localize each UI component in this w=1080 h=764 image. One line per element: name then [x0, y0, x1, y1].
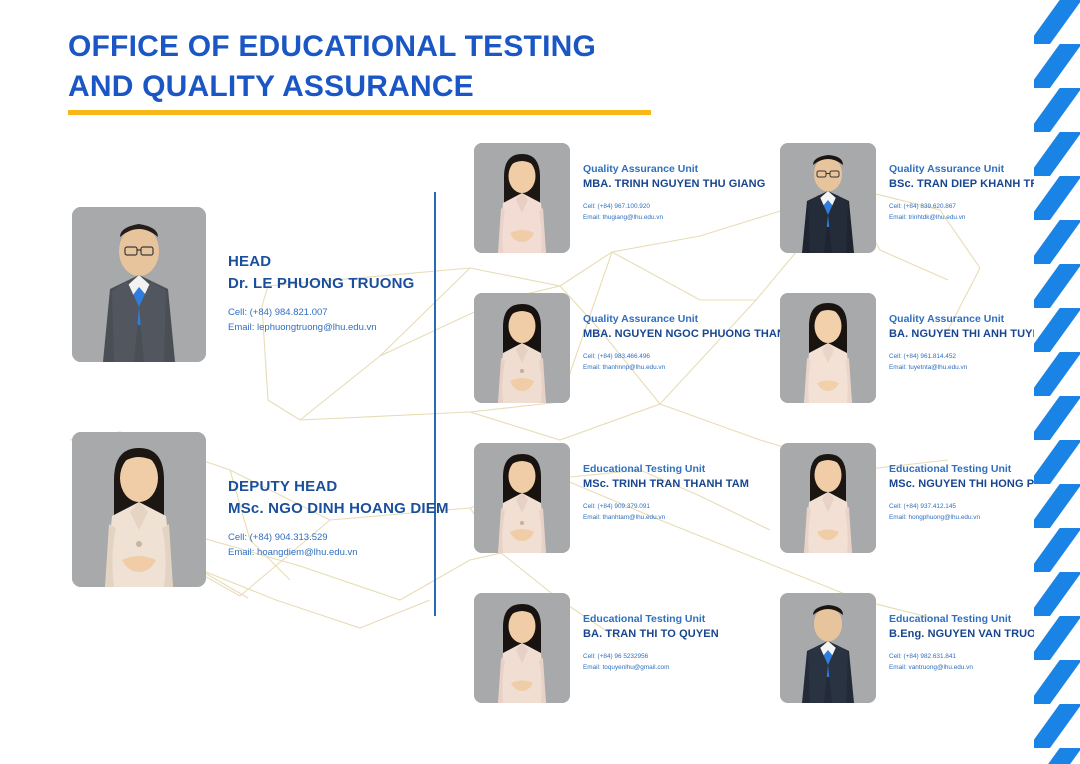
- staff-contact-6: Cell: (+84) 96 5232956 Email: toquyenlhu…: [583, 651, 719, 673]
- photo-tran-diep-khanh-trinh: [780, 143, 876, 253]
- photo-le-phuong-truong: [72, 207, 206, 362]
- staff-unit-1: Quality Assurance Unit: [889, 162, 1058, 177]
- page-title: OFFICE OF EDUCATIONAL TESTING AND QUALIT…: [68, 27, 596, 107]
- leader-contact-deputy-head: Cell: (+84) 904.313.529 Email: hoangdiem…: [228, 530, 449, 561]
- staff-email-1[interactable]: Email: trinhtdk@lhu.edu.vn: [889, 212, 1058, 223]
- staff-info-0: Quality Assurance Unit MBA. TRINH NGUYEN…: [583, 143, 765, 223]
- staff-cell-0: Cell: (+84) 967.100.920: [583, 201, 765, 212]
- staff-info-4: Educational Testing Unit MSc. TRINH TRAN…: [583, 443, 749, 523]
- staff-name-2: MBA. NGUYEN NGOC PHUONG THANH: [583, 327, 793, 343]
- staff-email-4[interactable]: Email: thanhtam@lhu.edu.vn: [583, 512, 749, 523]
- staff-name-1: BSc. TRAN DIEP KHANH TRINH: [889, 177, 1058, 193]
- staff-card-5[interactable]: Educational Testing Unit MSc. NGUYEN THI…: [780, 443, 1076, 553]
- staff-card-7[interactable]: Educational Testing Unit B.Eng. NGUYEN V…: [780, 593, 1053, 703]
- staff-card-3[interactable]: Quality Assurance Unit BA. NGUYEN THI AN…: [780, 293, 1047, 403]
- staff-email-3[interactable]: Email: tuyetnta@lhu.edu.vn: [889, 362, 1047, 373]
- photo-nguyen-thi-hong-phuong: [780, 443, 876, 553]
- staff-contact-0: Cell: (+84) 967.100.920 Email: thugiang@…: [583, 201, 765, 223]
- page-title-line-2: AND QUALITY ASSURANCE: [68, 67, 596, 107]
- leader-role-head: HEAD: [228, 251, 415, 273]
- photo-trinh-tran-thanh-tam: [474, 443, 570, 553]
- staff-info-1: Quality Assurance Unit BSc. TRAN DIEP KH…: [889, 143, 1058, 223]
- leader-email-head[interactable]: Email: lephuongtruong@lhu.edu.vn: [228, 320, 415, 335]
- staff-email-2[interactable]: Email: thanhnnp@lhu.edu.vn: [583, 362, 793, 373]
- staff-unit-4: Educational Testing Unit: [583, 462, 749, 477]
- photo-trinh-nguyen-thu-giang: [474, 143, 570, 253]
- staff-contact-3: Cell: (+84) 961.814.452 Email: tuyetnta@…: [889, 351, 1047, 373]
- staff-info-7: Educational Testing Unit B.Eng. NGUYEN V…: [889, 593, 1053, 673]
- staff-contact-4: Cell: (+84) 909.379.091 Email: thanhtam@…: [583, 501, 749, 523]
- photo-nguyen-ngoc-phuong-thanh: [474, 293, 570, 403]
- leader-info-head: HEAD Dr. LE PHUONG TRUONG Cell: (+84) 98…: [228, 207, 415, 335]
- staff-cell-3: Cell: (+84) 961.814.452: [889, 351, 1047, 362]
- staff-name-3: BA. NGUYEN THI ANH TUYET: [889, 327, 1047, 343]
- photo-ngo-dinh-hoang-diem: [72, 432, 206, 587]
- staff-card-6[interactable]: Educational Testing Unit BA. TRAN THI TO…: [474, 593, 719, 703]
- staff-card-1[interactable]: Quality Assurance Unit BSc. TRAN DIEP KH…: [780, 143, 1058, 253]
- page-title-line-1: OFFICE OF EDUCATIONAL TESTING: [68, 27, 596, 67]
- staff-name-6: BA. TRAN THI TO QUYEN: [583, 627, 719, 643]
- staff-cell-6: Cell: (+84) 96 5232956: [583, 651, 719, 662]
- leader-card-deputy-head[interactable]: DEPUTY HEAD MSc. NGO DINH HOANG DIEM Cel…: [72, 432, 449, 587]
- staff-contact-1: Cell: (+84) 839.620.867 Email: trinhtdk@…: [889, 201, 1058, 223]
- staff-email-0[interactable]: Email: thugiang@lhu.edu.vn: [583, 212, 765, 223]
- leader-role-deputy-head: DEPUTY HEAD: [228, 476, 449, 498]
- org-chart-page: OFFICE OF EDUCATIONAL TESTING AND QUALIT…: [0, 0, 1080, 764]
- staff-info-6: Educational Testing Unit BA. TRAN THI TO…: [583, 593, 719, 673]
- staff-cell-1: Cell: (+84) 839.620.867: [889, 201, 1058, 212]
- leader-name-deputy-head: MSc. NGO DINH HOANG DIEM: [228, 498, 449, 520]
- leader-info-deputy-head: DEPUTY HEAD MSc. NGO DINH HOANG DIEM Cel…: [228, 432, 449, 560]
- staff-unit-7: Educational Testing Unit: [889, 612, 1053, 627]
- staff-name-4: MSc. TRINH TRAN THANH TAM: [583, 477, 749, 493]
- staff-cell-7: Cell: (+84) 982.631.841: [889, 651, 1053, 662]
- staff-card-0[interactable]: Quality Assurance Unit MBA. TRINH NGUYEN…: [474, 143, 765, 253]
- leader-contact-head: Cell: (+84) 984.821.007 Email: lephuongt…: [228, 305, 415, 336]
- staff-email-6[interactable]: Email: toquyenlhu@gmail.com: [583, 662, 719, 673]
- staff-unit-6: Educational Testing Unit: [583, 612, 719, 627]
- staff-contact-7: Cell: (+84) 982.631.841 Email: vantruong…: [889, 651, 1053, 673]
- staff-card-2[interactable]: Quality Assurance Unit MBA. NGUYEN NGOC …: [474, 293, 793, 403]
- leader-cell-deputy-head: Cell: (+84) 904.313.529: [228, 530, 449, 545]
- staff-contact-2: Cell: (+84) 983.466.496 Email: thanhnnp@…: [583, 351, 793, 373]
- photo-tran-thi-to-quyen: [474, 593, 570, 703]
- staff-unit-3: Quality Assurance Unit: [889, 312, 1047, 327]
- photo-nguyen-thi-anh-tuyet: [780, 293, 876, 403]
- leader-cell-head: Cell: (+84) 984.821.007: [228, 305, 415, 320]
- staff-card-4[interactable]: Educational Testing Unit MSc. TRINH TRAN…: [474, 443, 749, 553]
- page-footer: 26 GUIDEBOOK - LAC HONG UNIVERSITY: [0, 716, 1080, 746]
- staff-name-7: B.Eng. NGUYEN VAN TRUONG: [889, 627, 1053, 643]
- staff-email-7[interactable]: Email: vantruong@lhu.edu.vn: [889, 662, 1053, 673]
- leader-name-head: Dr. LE PHUONG TRUONG: [228, 273, 415, 295]
- staff-name-0: MBA. TRINH NGUYEN THU GIANG: [583, 177, 765, 193]
- staff-unit-0: Quality Assurance Unit: [583, 162, 765, 177]
- edge-stripe-pattern: [1034, 0, 1080, 764]
- staff-info-3: Quality Assurance Unit BA. NGUYEN THI AN…: [889, 293, 1047, 373]
- leader-card-head[interactable]: HEAD Dr. LE PHUONG TRUONG Cell: (+84) 98…: [72, 207, 415, 362]
- staff-cell-4: Cell: (+84) 909.379.091: [583, 501, 749, 512]
- title-underline-rule: [68, 110, 651, 115]
- staff-cell-2: Cell: (+84) 983.466.496: [583, 351, 793, 362]
- staff-info-2: Quality Assurance Unit MBA. NGUYEN NGOC …: [583, 293, 793, 373]
- staff-unit-2: Quality Assurance Unit: [583, 312, 793, 327]
- leader-email-deputy-head[interactable]: Email: hoangdiem@lhu.edu.vn: [228, 545, 449, 560]
- photo-nguyen-van-truong: [780, 593, 876, 703]
